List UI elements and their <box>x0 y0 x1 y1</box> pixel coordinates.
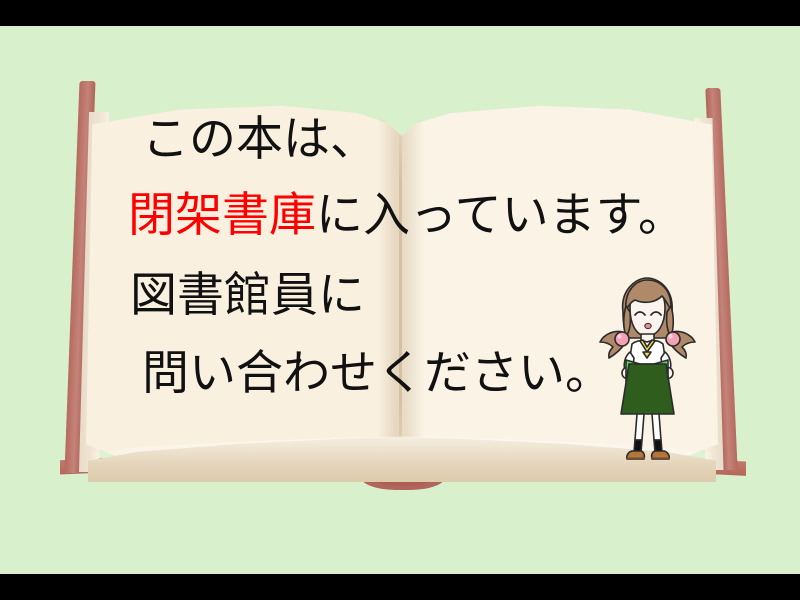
letterbox-bottom <box>0 574 800 600</box>
girl-reading-icon <box>592 272 702 464</box>
notice-line-3: 図書館員に <box>130 272 365 319</box>
letterbox-top <box>0 0 800 26</box>
notice-line-4: 問い合わせください。 <box>142 350 612 397</box>
closed-stacks-highlight: 閉架書庫 <box>128 188 316 243</box>
notice-line-2-rest: に入っています。 <box>316 188 685 243</box>
notice-line-2: 閉架書庫に入っています。 <box>128 192 685 239</box>
slide-canvas: この本は、 閉架書庫に入っています。 図書館員に 問い合わせください。 <box>0 0 800 600</box>
notice-line-1: この本は、 <box>142 116 377 163</box>
